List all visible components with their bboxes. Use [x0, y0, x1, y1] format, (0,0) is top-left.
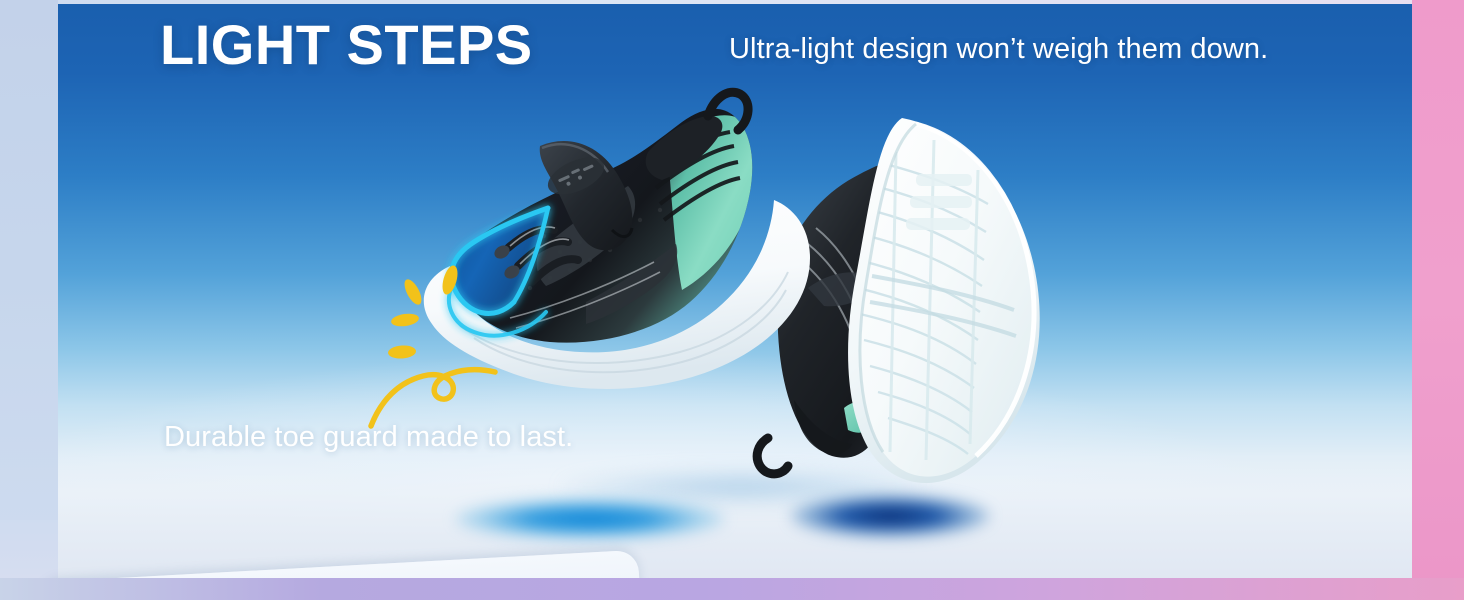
doodle-dash-2 [401, 277, 425, 307]
top-border-strip [58, 0, 1412, 4]
left-border-strip [0, 0, 58, 600]
bottom-border-strip [0, 578, 1464, 600]
yellow-highlight-doodle [355, 260, 555, 440]
page-title: LIGHT STEPS [160, 16, 533, 75]
left-border-bottom-fill [0, 520, 58, 580]
doodle-dash-1 [440, 264, 461, 296]
product-banner: LIGHT STEPS Ultra-light design won’t wei… [0, 0, 1464, 600]
tagline-text: Ultra-light design won’t weigh them down… [729, 33, 1268, 66]
doodle-dash-4 [388, 345, 417, 360]
front-shoe-shadow [455, 498, 725, 540]
doodle-dash-3 [390, 312, 419, 328]
caption-text: Durable toe guard made to last. [164, 421, 573, 454]
doodle-pointer [371, 370, 495, 426]
back-shoe-shadow [790, 494, 990, 538]
right-border-strip [1412, 0, 1464, 600]
